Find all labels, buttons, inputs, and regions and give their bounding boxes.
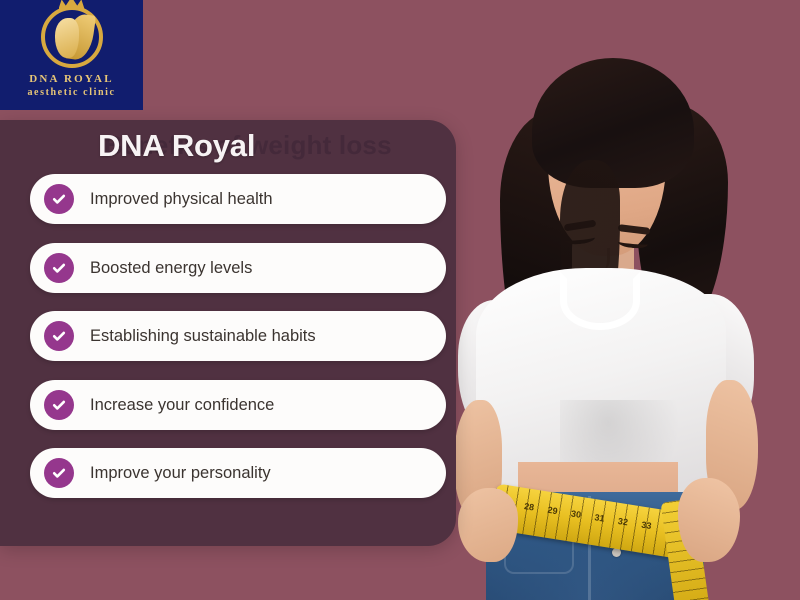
check-circle-icon xyxy=(44,458,74,488)
brand-logo[interactable]: DNA ROYAL aesthetic clinic xyxy=(0,0,143,110)
logo-face-silhouette xyxy=(55,18,79,58)
logo-name: DNA ROYAL xyxy=(29,73,114,85)
benefit-label: Boosted energy levels xyxy=(90,259,252,278)
check-circle-icon xyxy=(44,184,74,214)
benefit-label: Establishing sustainable habits xyxy=(90,327,316,346)
hero-photo: 27 28 29 30 31 32 33 34 xyxy=(440,0,800,600)
page-title: DNA Royal xyxy=(98,128,255,164)
check-circle-icon xyxy=(44,253,74,283)
tape-number: 32 xyxy=(617,516,628,527)
tape-number: 31 xyxy=(594,512,605,523)
shirt-collar xyxy=(560,272,640,330)
benefit-item-5[interactable]: Improve your personality xyxy=(30,448,446,498)
benefit-label: Improved physical health xyxy=(90,190,273,209)
benefit-item-2[interactable]: Boosted energy levels xyxy=(30,243,446,293)
benefit-label: Improve your personality xyxy=(90,464,271,483)
check-circle-icon xyxy=(44,321,74,351)
benefit-item-3[interactable]: Establishing sustainable habits xyxy=(30,311,446,361)
tape-number: 33 xyxy=(641,520,652,531)
woman-face-crown-emblem-icon xyxy=(41,6,103,68)
benefit-item-4[interactable]: Increase your confidence xyxy=(30,380,446,430)
logo-tagline: aesthetic clinic xyxy=(27,87,115,98)
tape-number: 29 xyxy=(547,505,558,516)
benefit-item-1[interactable]: Improved physical health xyxy=(30,174,446,224)
check-circle-icon xyxy=(44,390,74,420)
poster-canvas: 27 28 29 30 31 32 33 34 Benefits of weig… xyxy=(0,0,800,600)
tape-number: 28 xyxy=(523,501,534,512)
tape-number: 30 xyxy=(570,508,581,519)
hand-left xyxy=(458,488,518,562)
benefit-label: Increase your confidence xyxy=(90,396,274,415)
